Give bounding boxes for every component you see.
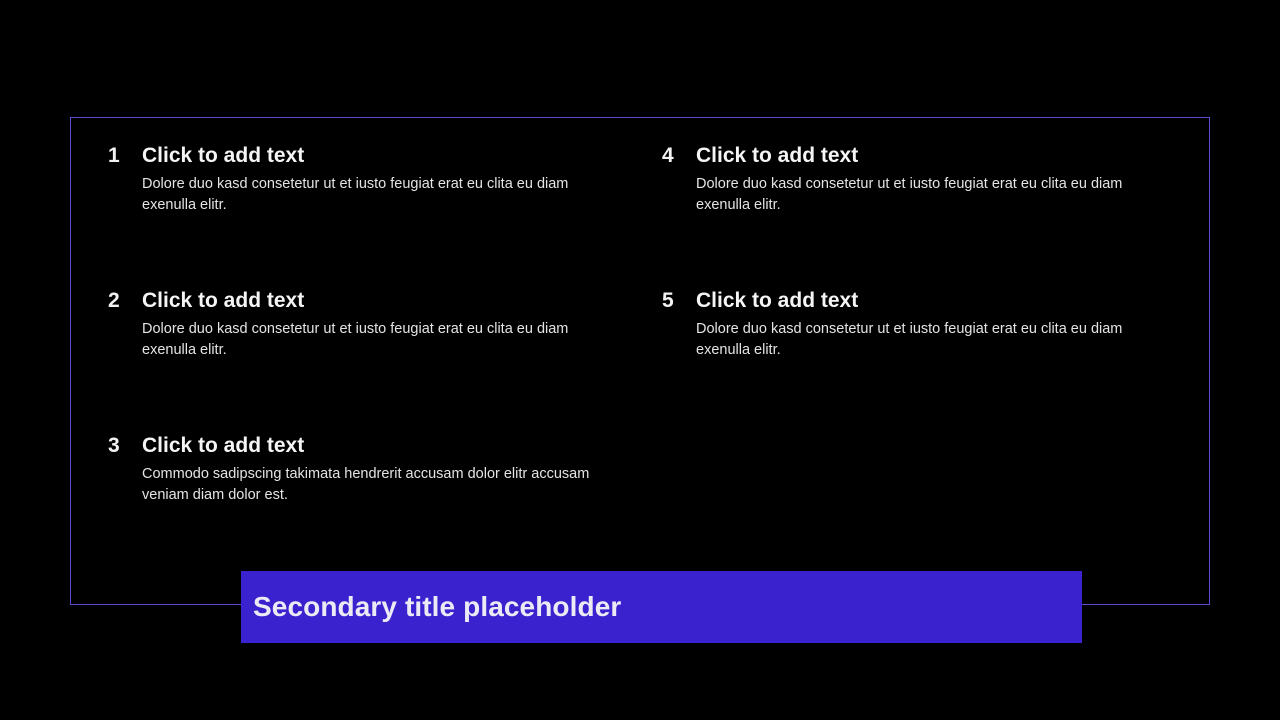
item-number: 4: [662, 142, 696, 170]
item-title[interactable]: Click to add text: [142, 142, 304, 170]
item-number: 3: [108, 432, 142, 460]
item-number: 5: [662, 287, 696, 315]
item-number: 1: [108, 142, 142, 170]
numbered-item-header: 5 Click to add text: [662, 287, 1172, 315]
numbered-item-header: 1 Click to add text: [108, 142, 622, 170]
numbered-items-grid: 1 Click to add text Dolore duo kasd cons…: [108, 142, 1212, 577]
numbered-item-header: 3 Click to add text: [108, 432, 622, 460]
numbered-item-header: 4 Click to add text: [662, 142, 1172, 170]
item-title[interactable]: Click to add text: [142, 287, 304, 315]
slide-canvas: 1 Click to add text Dolore duo kasd cons…: [0, 0, 1280, 720]
secondary-title-banner[interactable]: Secondary title placeholder: [241, 571, 1082, 643]
item-number: 2: [108, 287, 142, 315]
item-title[interactable]: Click to add text: [696, 287, 858, 315]
numbered-item-header: 2 Click to add text: [108, 287, 622, 315]
item-body-text[interactable]: Commodo sadipscing takimata hendrerit ac…: [142, 464, 622, 506]
numbered-item-5[interactable]: 5 Click to add text Dolore duo kasd cons…: [662, 287, 1212, 432]
item-title[interactable]: Click to add text: [142, 432, 304, 460]
numbered-item-3[interactable]: 3 Click to add text Commodo sadipscing t…: [108, 432, 662, 577]
item-body-text[interactable]: Dolore duo kasd consetetur ut et iusto f…: [696, 174, 1172, 216]
item-body-text[interactable]: Dolore duo kasd consetetur ut et iusto f…: [696, 319, 1172, 361]
item-body-text[interactable]: Dolore duo kasd consetetur ut et iusto f…: [142, 174, 622, 216]
numbered-item-2[interactable]: 2 Click to add text Dolore duo kasd cons…: [108, 287, 662, 432]
numbered-item-1[interactable]: 1 Click to add text Dolore duo kasd cons…: [108, 142, 662, 287]
item-body-text[interactable]: Dolore duo kasd consetetur ut et iusto f…: [142, 319, 622, 361]
item-title[interactable]: Click to add text: [696, 142, 858, 170]
secondary-title-label[interactable]: Secondary title placeholder: [253, 590, 621, 624]
numbered-item-4[interactable]: 4 Click to add text Dolore duo kasd cons…: [662, 142, 1212, 287]
